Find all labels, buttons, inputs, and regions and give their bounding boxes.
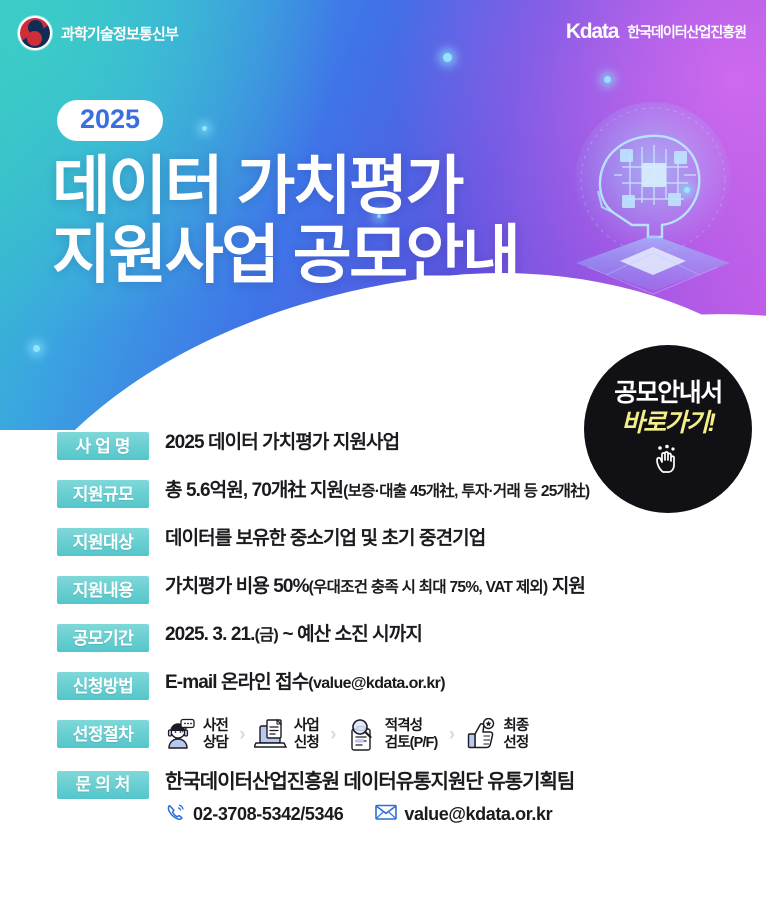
content-detail: (우대조건 충족 시 최대 75%, VAT 제외) <box>309 579 548 596</box>
glow-dot <box>443 53 452 62</box>
chevron-right-icon: › <box>228 724 254 746</box>
glow-dot <box>604 76 611 83</box>
glow-dot <box>33 345 40 352</box>
gov-logo: 과학기술정보통신부 <box>18 16 178 50</box>
process-step-1: 사전상담 <box>163 718 228 753</box>
contact-organization: 한국데이터산업진흥원 데이터유통지원단 유통기획팀 <box>165 769 766 795</box>
content-tail: 지원 <box>547 576 585 597</box>
row-value-support-scale: 총 5.6억원, 70개社 지원(보증·대출 45개社, 투자·거래 등 25개… <box>149 478 766 504</box>
magnifier-clipboard-icon <box>345 718 379 752</box>
contact-details: 한국데이터산업진흥원 데이터유통지원단 유통기획팀 02-3708-5342/5… <box>149 769 766 828</box>
contact-email-address: value@kdata.or.kr <box>404 804 552 825</box>
row-value-content: 가치평가 비용 50%(우대조건 충족 시 최대 75%, VAT 제외) 지원 <box>149 574 766 600</box>
row-value-apply-method: E-mail 온라인 접수(value@kdata.or.kr) <box>149 670 766 696</box>
info-row-period: 공모기간 2025. 3. 21.(금) ~ 예산 소진 시까지 <box>0 622 766 652</box>
row-label-period: 공모기간 <box>57 624 149 652</box>
process-step-4-label: 최종선정 <box>503 718 528 753</box>
process-step-3-label: 적격성검토(P/F) <box>385 718 438 753</box>
contact-email[interactable]: value@kdata.or.kr <box>375 804 552 825</box>
headset-consultant-icon <box>163 718 197 752</box>
row-label-target: 지원대상 <box>57 528 149 556</box>
info-row-process: 선정절차 <box>0 718 766 753</box>
ai-brain-circuit-graphic <box>558 95 748 300</box>
thumbs-up-star-icon <box>463 718 497 752</box>
kdata-logo: Kdata 한국데이터산업진흥원 <box>566 20 746 44</box>
info-row-contact: 문의처 한국데이터산업진흥원 데이터유통지원단 유통기획팀 02-3708-53… <box>0 769 766 828</box>
taegeuk-logo-icon <box>18 16 52 50</box>
row-value-business-name: 2025 데이터 가치평가 지원사업 <box>149 430 766 456</box>
chevron-right-icon: › <box>319 724 345 746</box>
apply-method-email: (value@kdata.or.kr) <box>308 675 445 692</box>
info-row-business-name: 사업명 2025 데이터 가치평가 지원사업 <box>0 430 766 460</box>
kdata-wordmark: Kdata <box>566 20 618 44</box>
chevron-right-icon: › <box>437 724 463 746</box>
row-value-target: 데이터를 보유한 중소기업 및 초기 중견기업 <box>149 526 766 552</box>
process-step-3: 적격성검토(P/F) <box>345 718 438 753</box>
row-label-process: 선정절차 <box>57 720 149 748</box>
row-label-support-scale: 지원규모 <box>57 480 149 508</box>
title-line-1: 데이터 가치평가 <box>52 152 518 221</box>
row-label-content: 지원내용 <box>57 576 149 604</box>
apply-method-main: E-mail 온라인 접수 <box>165 672 308 693</box>
row-label-contact: 문의처 <box>57 771 149 799</box>
process-step-1-label: 사전상담 <box>203 718 228 753</box>
process-step-2-label: 사업신청 <box>294 718 319 753</box>
row-label-business-name: 사업명 <box>57 432 149 460</box>
envelope-icon <box>375 804 397 825</box>
contact-phone-number: 02-3708-5342/5346 <box>193 804 343 825</box>
poster-root: 과학기술정보통신부 Kdata 한국데이터산업진흥원 2025 데이터 가치평가… <box>0 0 766 914</box>
phone-ringing-icon <box>165 802 186 828</box>
glow-dot <box>202 126 207 131</box>
process-step-4: 최종선정 <box>463 718 528 753</box>
row-value-period: 2025. 3. 21.(금) ~ 예산 소진 시까지 <box>149 622 766 648</box>
period-main: 2025. 3. 21. <box>165 624 255 645</box>
support-scale-main: 총 5.6억원, 70개社 지원 <box>165 480 343 501</box>
period-day: (금) <box>255 627 279 644</box>
support-scale-detail: (보증·대출 45개社, 투자·거래 등 25개社) <box>343 483 589 500</box>
process-step-2: 사업신청 <box>254 718 319 753</box>
gov-name-label: 과학기술정보통신부 <box>61 23 178 44</box>
info-row-support-scale: 지원규모 총 5.6억원, 70개社 지원(보증·대출 45개社, 투자·거래 … <box>0 478 766 508</box>
row-label-apply-method: 신청방법 <box>57 672 149 700</box>
kdata-name-label: 한국데이터산업진흥원 <box>627 22 746 42</box>
cta-line-1: 공모안내서 <box>614 379 722 408</box>
year-badge: 2025 <box>57 100 163 141</box>
contact-phone[interactable]: 02-3708-5342/5346 <box>165 802 343 828</box>
contact-sub-line: 02-3708-5342/5346 value@kdata.or.kr <box>165 802 766 828</box>
info-row-target: 지원대상 데이터를 보유한 중소기업 및 초기 중견기업 <box>0 526 766 556</box>
info-row-apply-method: 신청방법 E-mail 온라인 접수(value@kdata.or.kr) <box>0 670 766 700</box>
page-title: 데이터 가치평가 지원사업 공모안내 <box>52 152 518 290</box>
info-section: 사업명 2025 데이터 가치평가 지원사업 지원규모 총 5.6억원, 70개… <box>0 430 766 846</box>
process-steps: 사전상담 › 사업신청 <box>149 718 766 753</box>
period-tail: ~ 예산 소진 시까지 <box>278 624 422 645</box>
info-row-content: 지원내용 가치평가 비용 50%(우대조건 충족 시 최대 75%, VAT 제… <box>0 574 766 604</box>
laptop-document-icon <box>254 718 288 752</box>
content-main: 가치평가 비용 50% <box>165 576 309 597</box>
